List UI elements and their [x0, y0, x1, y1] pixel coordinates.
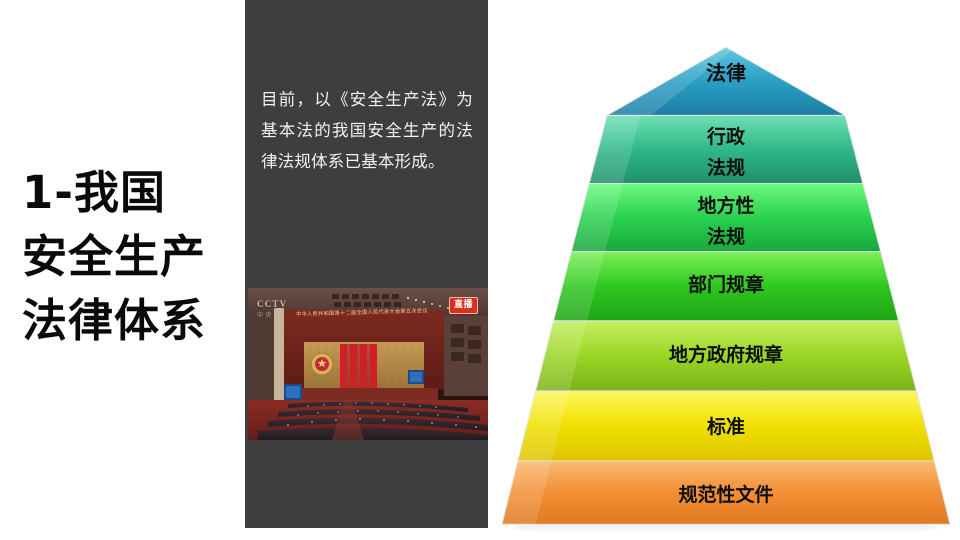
- cctv-logo: CCTV: [257, 299, 287, 309]
- dark-content-panel: 目前，以《安全生产法》为基本法的我国安全生产的法律法规体系已基本形成。: [245, 0, 488, 528]
- page-title: 1-我国 安全生产 法律体系: [22, 168, 240, 346]
- cctv-sublogo: 中 央: [257, 310, 272, 319]
- pyramid-svg: [492, 18, 960, 534]
- title-line-3: 法律体系: [22, 296, 240, 346]
- title-line-1: 1-我国: [22, 168, 240, 218]
- title-line-2: 安全生产: [22, 232, 240, 282]
- legal-hierarchy-pyramid: 法律 行政 法规 地方性 法规 部门规章 地方政府规章 标准 规范性文件: [492, 18, 960, 534]
- panel-paragraph: 目前，以《安全生产法》为基本法的我国安全生产的法律法规体系已基本形成。: [261, 84, 473, 177]
- live-badge: 直播: [449, 297, 478, 314]
- slide-root: 1-我国 安全生产 法律体系 目前，以《安全生产法》为基本法的我国安全生产的法律…: [0, 0, 960, 540]
- npc-session-photo: CCTV 中 央 直播 中华人民共和国第十二届全国人民代表大会第五次会议: [248, 288, 488, 440]
